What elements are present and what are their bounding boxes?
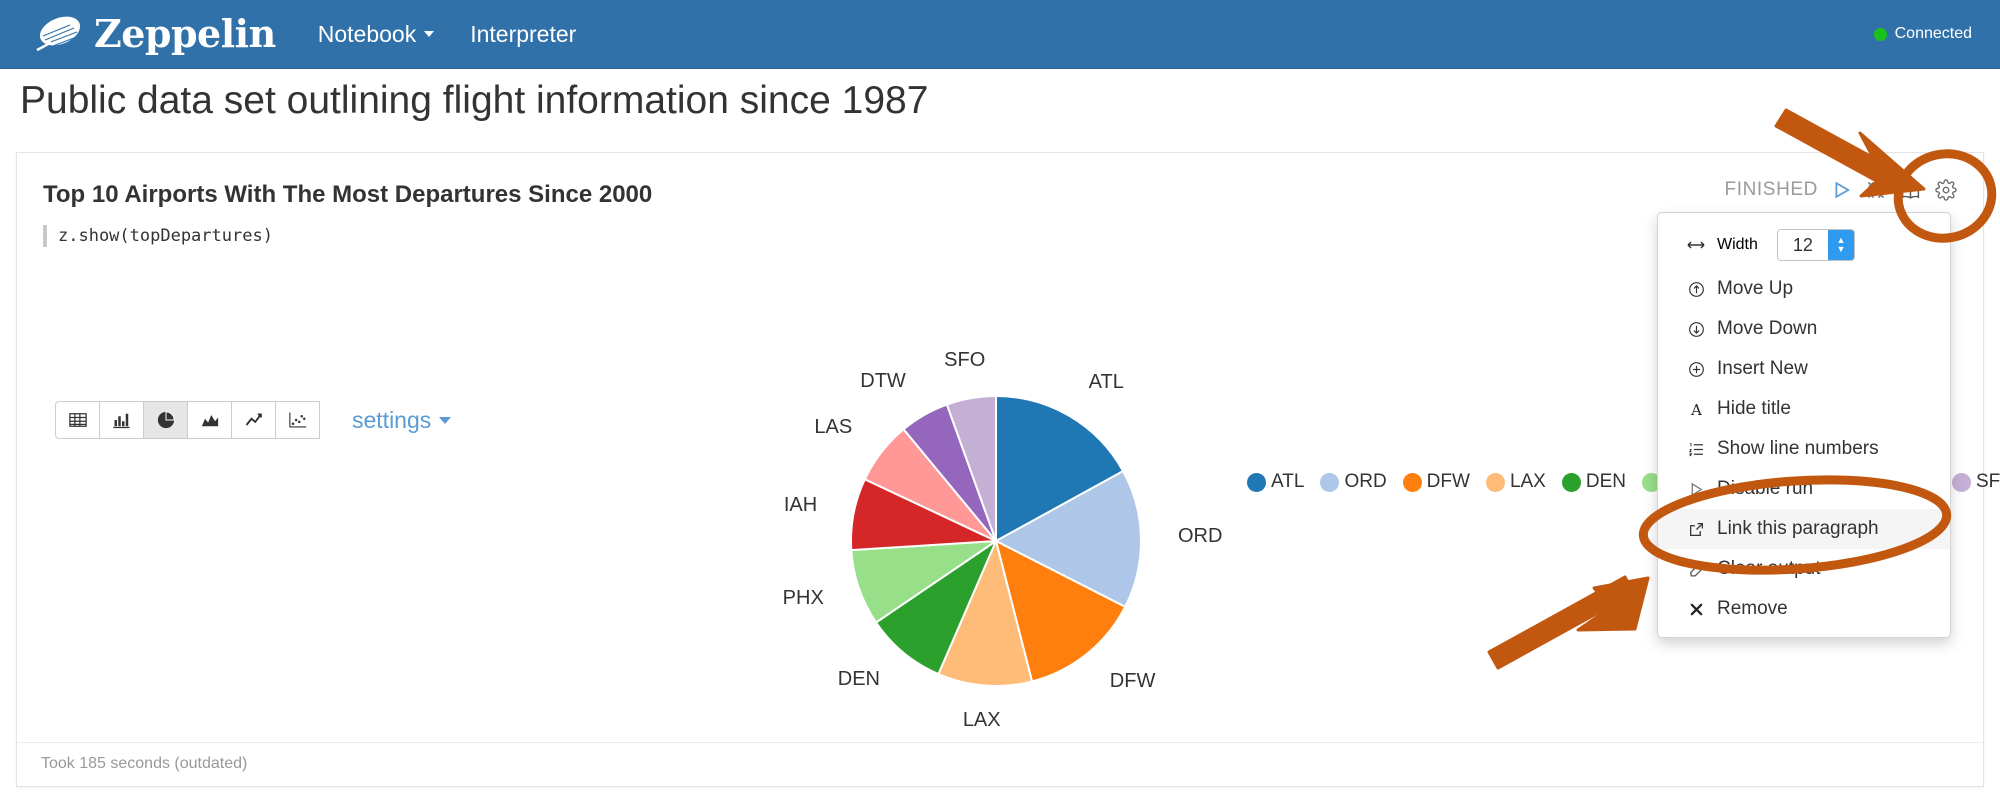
pie-slice-atl[interactable] [996, 396, 1123, 541]
pie-slice-ord[interactable] [996, 471, 1141, 607]
paragraph-code-editor[interactable]: z.show(topDepartures) [43, 225, 273, 247]
top-navbar: Zeppelin Notebook Interpreter Connected [0, 0, 2000, 69]
pie-label-sfo: SFO [944, 349, 985, 372]
external-link-icon [1686, 521, 1706, 538]
table-view-button[interactable] [55, 401, 100, 439]
legend-label: LAX [1510, 471, 1546, 493]
legend-item-sfo[interactable]: SFO [1952, 471, 2000, 493]
run-paragraph-icon[interactable] [1832, 180, 1852, 200]
pie-slice-phx[interactable] [851, 541, 996, 623]
nav-links: Notebook Interpreter [318, 23, 577, 46]
pie-slice-sfo[interactable] [947, 396, 996, 541]
chart-settings-toggle[interactable]: settings [352, 407, 451, 434]
menu-item-width[interactable]: Width 12 ▲▼ [1658, 221, 1950, 269]
menu-item-label: Hide title [1717, 398, 1791, 420]
menu-item-link-this-paragraph[interactable]: Link this paragraph [1658, 509, 1950, 549]
menu-item-insert-new[interactable]: Insert New [1658, 349, 1950, 389]
menu-item-move-down[interactable]: Move Down [1658, 309, 1950, 349]
width-stepper-arrows-icon[interactable]: ▲▼ [1828, 230, 1854, 260]
legend-item-lax[interactable]: LAX [1486, 471, 1546, 493]
pie-chart-view-button[interactable] [143, 401, 188, 439]
legend-item-ord[interactable]: ORD [1320, 471, 1386, 493]
line-chart-view-button[interactable] [231, 401, 276, 439]
menu-item-label: Link this paragraph [1717, 518, 1879, 540]
menu-item-label: Move Up [1717, 278, 1793, 300]
page-title[interactable]: Public data set outlining flight informa… [20, 79, 928, 123]
pie-label-atl: ATL [1089, 371, 1124, 394]
nav-item-notebook-label: Notebook [318, 23, 416, 46]
legend-color-swatch [1952, 473, 1971, 492]
paragraph-context-menu: Width 12 ▲▼ Move UpMove DownInsert NewAH… [1657, 212, 1951, 638]
paragraph-status-bar: FINISHED [1725, 179, 1957, 201]
menu-item-label: Show line numbers [1717, 438, 1879, 460]
code-gutter [43, 225, 47, 247]
pie-label-las: LAS [814, 416, 852, 439]
menu-item-width-label: Width [1717, 236, 1758, 254]
legend-label: ATL [1271, 471, 1304, 493]
visualization-type-buttons: settings [55, 401, 451, 439]
width-stepper[interactable]: 12 ▲▼ [1777, 229, 1855, 261]
bar-chart-view-button[interactable] [99, 401, 144, 439]
menu-item-move-up[interactable]: Move Up [1658, 269, 1950, 309]
pie-slice-iah[interactable] [851, 479, 996, 550]
pie-slice-lax[interactable] [938, 541, 1032, 686]
nav-item-notebook[interactable]: Notebook [318, 23, 434, 46]
eraser-icon [1686, 561, 1706, 578]
paragraph-menu-gear-icon[interactable] [1935, 179, 1957, 201]
legend-label: DFW [1427, 471, 1470, 493]
x-icon [1686, 601, 1706, 618]
arrow-down-circle-icon [1686, 321, 1706, 338]
pie-slice-dtw[interactable] [904, 405, 996, 541]
legend-color-swatch [1403, 473, 1422, 492]
paragraph-title[interactable]: Top 10 Airports With The Most Departures… [43, 181, 652, 209]
chart-settings-label: settings [352, 407, 431, 434]
pie-slice-dfw[interactable] [996, 541, 1125, 681]
menu-item-label: Move Down [1717, 318, 1817, 340]
chevron-down-icon [439, 417, 451, 424]
paragraph-code-text: z.show(topDepartures) [58, 225, 273, 247]
legend-color-swatch [1562, 473, 1581, 492]
svg-text:A: A [1690, 401, 1702, 418]
menu-item-disable-run[interactable]: Disable run [1658, 469, 1950, 509]
menu-item-show-line-numbers[interactable]: Show line numbers [1658, 429, 1950, 469]
pie-label-dtw: DTW [860, 370, 906, 393]
connection-dot-icon [1874, 28, 1887, 41]
menu-item-label: Remove [1717, 598, 1788, 620]
connection-status-label: Connected [1895, 25, 1972, 43]
nav-item-interpreter[interactable]: Interpreter [470, 23, 576, 46]
letter-a-icon: A [1686, 401, 1706, 418]
legend-label: DEN [1586, 471, 1626, 493]
arrows-horizontal-icon [1686, 239, 1706, 251]
plus-circle-icon [1686, 361, 1706, 378]
pie-label-lax: LAX [963, 709, 1001, 732]
connection-status: Connected [1874, 25, 1972, 43]
brand-name: Zeppelin [94, 15, 276, 53]
zeppelin-logo-icon [34, 14, 84, 54]
legend-item-den[interactable]: DEN [1562, 471, 1626, 493]
menu-item-hide-title[interactable]: AHide title [1658, 389, 1950, 429]
area-chart-view-button[interactable] [187, 401, 232, 439]
pie-label-den: DEN [838, 668, 880, 691]
menu-item-clear-output[interactable]: Clear output [1658, 549, 1950, 589]
play-outline-icon [1686, 481, 1706, 498]
pie-slice-las[interactable] [865, 429, 996, 541]
nav-item-interpreter-label: Interpreter [470, 23, 576, 46]
scatter-chart-view-button[interactable] [275, 401, 320, 439]
list-numbered-icon [1686, 441, 1706, 458]
pie-label-dfw: DFW [1110, 670, 1156, 693]
legend-color-swatch [1320, 473, 1339, 492]
legend-item-dfw[interactable]: DFW [1403, 471, 1470, 493]
menu-item-label: Clear output [1717, 558, 1821, 580]
pie-slice-den[interactable] [876, 541, 996, 674]
paragraph-footer: Took 185 seconds (outdated) [17, 742, 1983, 786]
menu-item-label: Insert New [1717, 358, 1808, 380]
chevron-down-icon [424, 31, 434, 37]
arrow-up-circle-icon [1686, 281, 1706, 298]
status-badge: FINISHED [1725, 179, 1818, 201]
brand-logo-group[interactable]: Zeppelin [34, 14, 276, 54]
legend-label: ORD [1344, 471, 1386, 493]
width-value[interactable]: 12 [1778, 230, 1828, 260]
pie-label-ord: ORD [1178, 525, 1222, 548]
legend-color-swatch [1247, 473, 1266, 492]
menu-item-remove[interactable]: Remove [1658, 589, 1950, 629]
note-header: Public data set outlining flight informa… [0, 69, 2000, 146]
execution-time-label: Took 185 seconds (outdated) [41, 755, 247, 773]
show-editor-icon[interactable] [1900, 180, 1921, 201]
legend-item-atl[interactable]: ATL [1247, 471, 1304, 493]
legend-color-swatch [1486, 473, 1505, 492]
pie-label-phx: PHX [783, 587, 824, 610]
menu-item-label: Disable run [1717, 478, 1813, 500]
legend-label: SFO [1976, 471, 2000, 493]
pie-label-iah: IAH [784, 494, 817, 517]
collapse-paragraph-icon[interactable] [1866, 180, 1886, 200]
